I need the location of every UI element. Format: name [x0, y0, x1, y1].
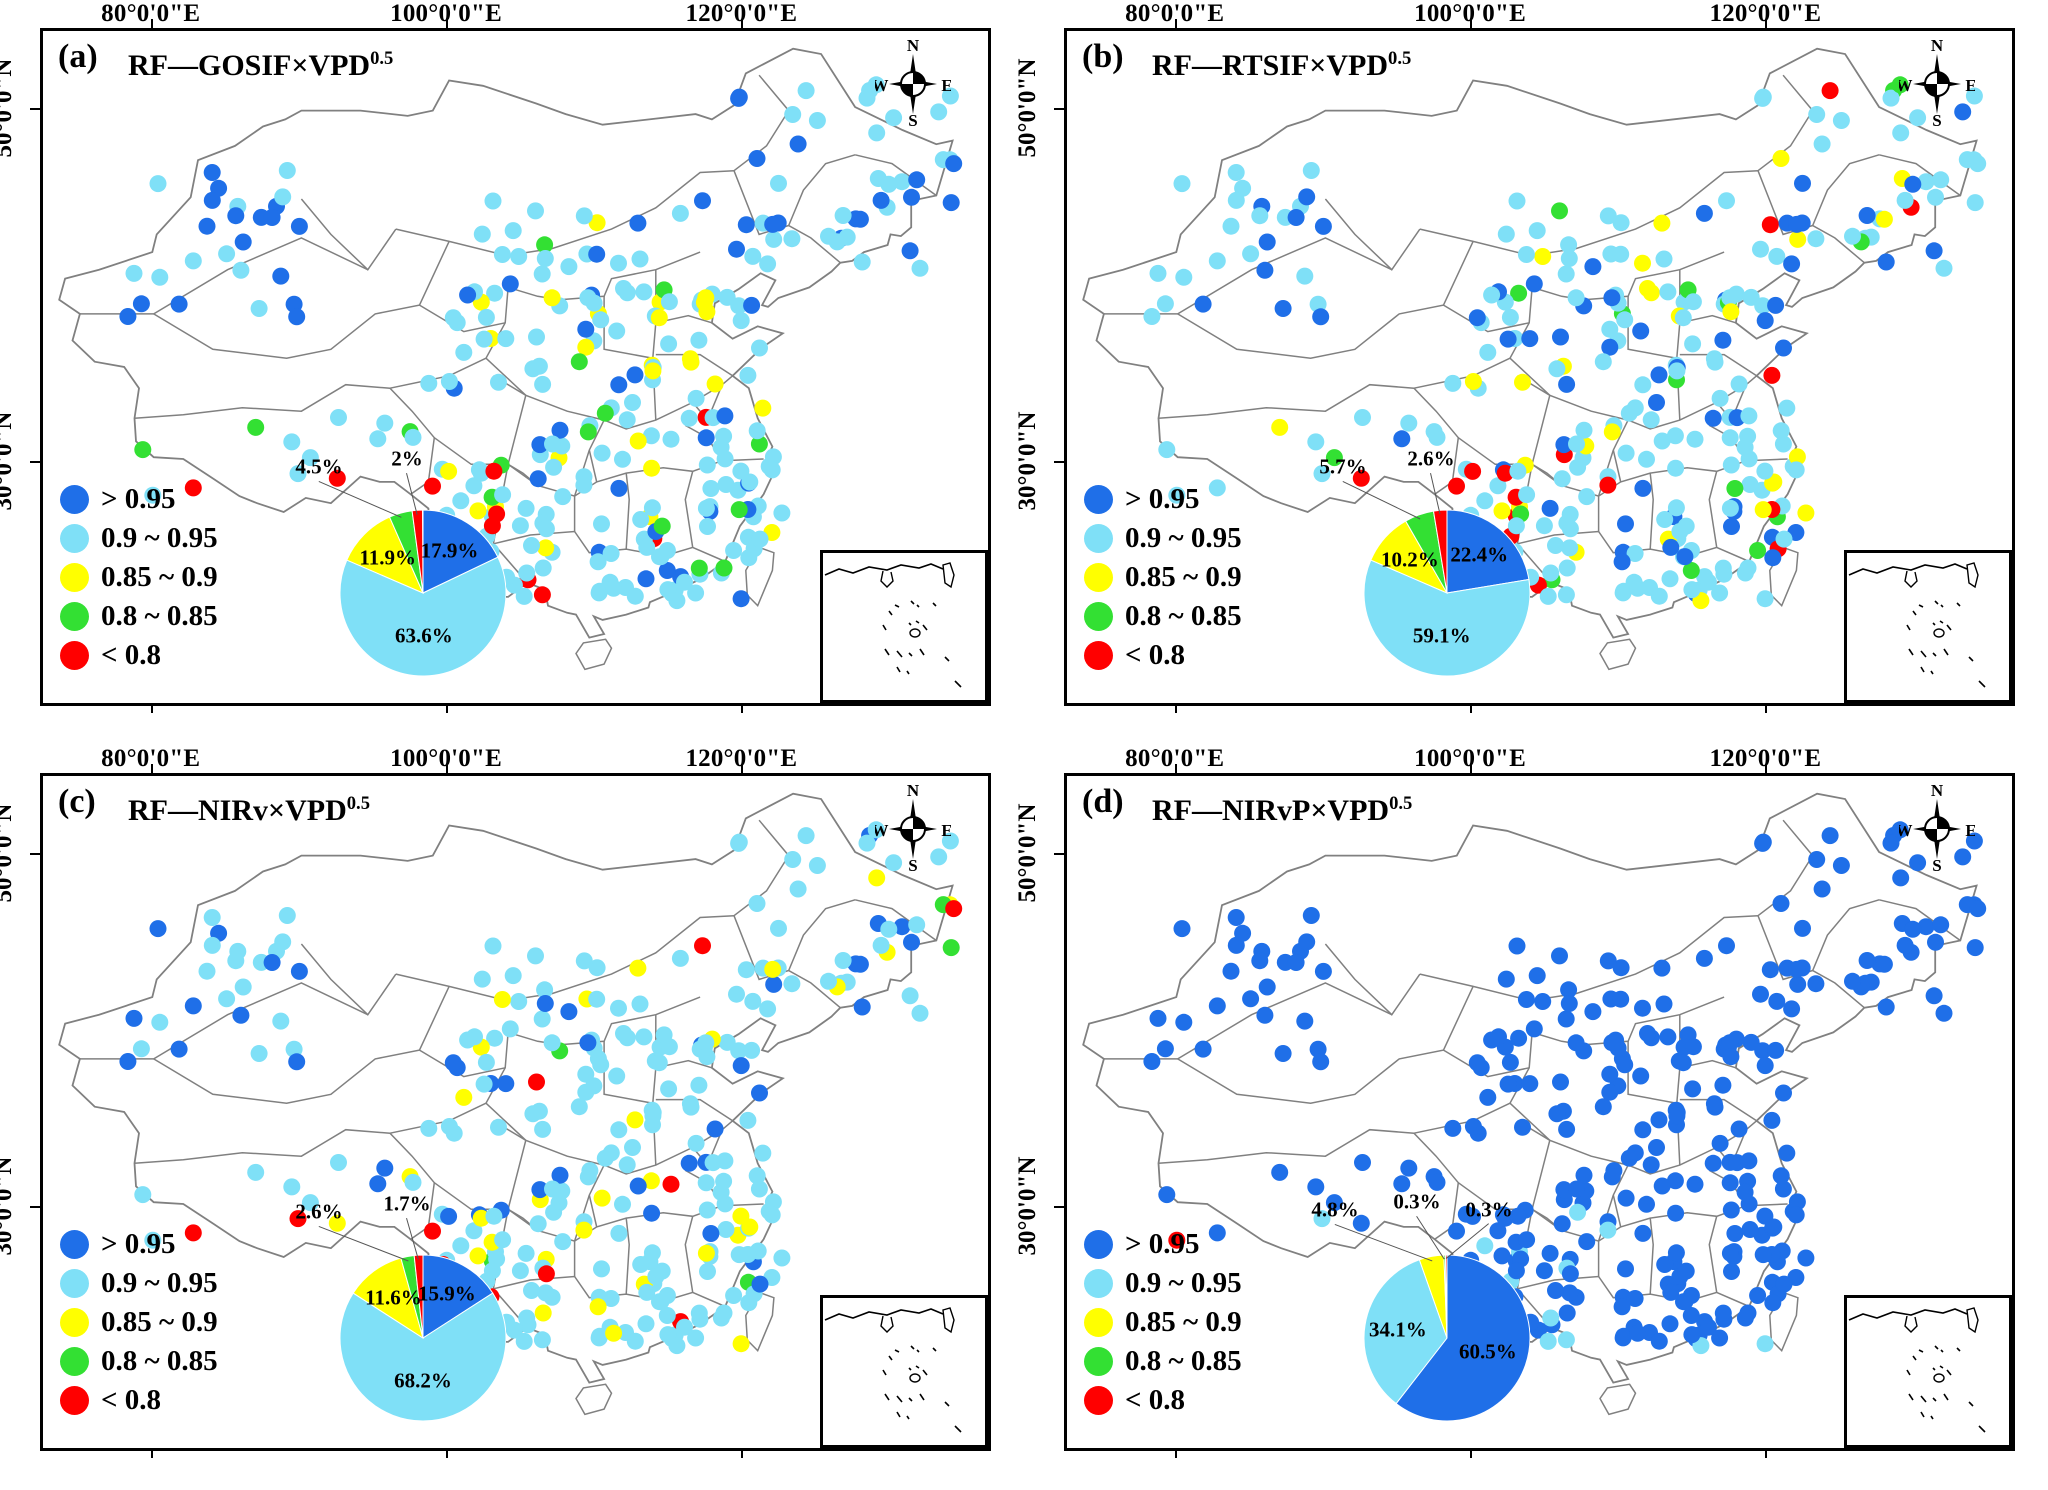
pie-chart [340, 1255, 506, 1421]
legend-item-label: 0.8 ~ 0.85 [1125, 1347, 1242, 1376]
svg-text:N: N [907, 781, 920, 800]
south-china-sea-inset [820, 550, 988, 703]
pie-slice-label: 17.9% [421, 538, 479, 563]
panel-title-text: RF—NIRvP×VPD [1152, 794, 1389, 827]
lon-tick-mark [1470, 764, 1472, 773]
panel-title: RF—GOSIF×VPD0.5 [128, 48, 393, 83]
lat-tick-mark [30, 1206, 40, 1208]
legend-item-label: > 0.95 [1125, 485, 1200, 514]
pie-slice-label: 60.5% [1459, 1339, 1517, 1364]
lon-tick-mark [446, 19, 448, 28]
panel-tag: (b) [1082, 38, 1124, 76]
svg-text:W: W [1899, 821, 1913, 840]
legend-color-swatch-icon [60, 641, 89, 670]
legend-color-swatch-icon [60, 1347, 89, 1376]
legend-item[interactable]: < 0.8 [1084, 1383, 1242, 1418]
pie-slice-callout-label: 1.7% [383, 1192, 430, 1217]
compass-rose-icon: N S E W [875, 36, 951, 128]
legend-item[interactable]: > 0.95 [60, 482, 218, 517]
panel-tag: (c) [58, 783, 96, 821]
legend-color-swatch-icon [60, 485, 89, 514]
lon-tick-mark [151, 764, 153, 773]
legend-item[interactable]: 0.9 ~ 0.95 [60, 1266, 218, 1301]
south-china-sea-inset [1844, 550, 2012, 703]
legend: > 0.950.9 ~ 0.950.85 ~ 0.90.8 ~ 0.85< 0.… [1084, 1227, 1242, 1422]
lon-tick-mark [446, 764, 448, 773]
legend-color-swatch-icon [1084, 1386, 1113, 1415]
pie-slice-label: 11.9% [359, 545, 416, 570]
pie-slice-label: 34.1% [1369, 1318, 1427, 1343]
pie-slice-callout-label: 4.5% [295, 455, 342, 480]
lon-tick-mark [1175, 19, 1177, 28]
panel-title-exponent: 0.5 [1388, 48, 1411, 69]
legend-item-label: 0.85 ~ 0.9 [101, 563, 218, 592]
lat-tick-label: 50°0'0"N [1014, 58, 1042, 157]
legend-color-swatch-icon [1084, 1347, 1113, 1376]
panel-title-text: RF—RTSIF×VPD [1152, 49, 1388, 82]
pie-slice-callout-label: 0.3% [1465, 1198, 1512, 1223]
lat-tick-label: 50°0'0"N [1014, 803, 1042, 902]
compass-rose-icon: N S E W [875, 781, 951, 873]
legend: > 0.950.9 ~ 0.950.85 ~ 0.90.8 ~ 0.85< 0.… [60, 482, 218, 677]
legend-color-swatch-icon [60, 563, 89, 592]
legend-item[interactable]: > 0.95 [1084, 1227, 1242, 1262]
panel-title: RF—NIRvP×VPD0.5 [1152, 793, 1412, 828]
legend-item-label: 0.8 ~ 0.85 [101, 602, 218, 631]
pie-slice-label: 22.4% [1450, 543, 1508, 568]
lat-tick-mark [1054, 461, 1064, 463]
legend-item[interactable]: > 0.95 [60, 1227, 218, 1262]
svg-text:E: E [1965, 821, 1975, 840]
svg-text:E: E [941, 76, 951, 95]
legend-color-swatch-icon [60, 602, 89, 631]
panel-title-exponent: 0.5 [347, 793, 370, 814]
lat-tick-mark [1054, 1206, 1064, 1208]
lat-tick-label: 50°0'0"N [0, 58, 18, 157]
legend-color-swatch-icon [1084, 1269, 1113, 1298]
map-panel-a: 80°0'0"E100°0'0"E120°0'0"E50°0'0"N30°0'0… [0, 0, 1024, 745]
compass-rose-icon: N S E W [1899, 781, 1975, 873]
pie-chart [340, 510, 506, 676]
legend-item[interactable]: < 0.8 [60, 638, 218, 673]
lon-tick-mark [1175, 764, 1177, 773]
legend-item[interactable]: 0.85 ~ 0.9 [60, 560, 218, 595]
legend-item[interactable]: 0.8 ~ 0.85 [1084, 599, 1242, 634]
svg-text:W: W [875, 76, 889, 95]
svg-text:N: N [1931, 781, 1944, 800]
pie-slice-callout-label: 5.7% [1319, 455, 1366, 480]
legend-item-label: 0.8 ~ 0.85 [1125, 602, 1242, 631]
legend-item[interactable]: 0.85 ~ 0.9 [60, 1305, 218, 1340]
legend-item-label: > 0.95 [101, 485, 176, 514]
pie-slice-callout-label: 4.8% [1311, 1198, 1358, 1223]
legend-item-label: < 0.8 [1125, 641, 1185, 670]
map-panel-b: 80°0'0"E100°0'0"E120°0'0"E50°0'0"N30°0'0… [1024, 0, 2048, 745]
pie-slice-label: 68.2% [394, 1369, 452, 1394]
legend-item[interactable]: < 0.8 [1084, 638, 1242, 673]
panel-title: RF—RTSIF×VPD0.5 [1152, 48, 1411, 83]
pie-slice-label: 10.2% [1381, 547, 1439, 572]
lat-tick-label: 30°0'0"N [0, 412, 18, 511]
legend-color-swatch-icon [60, 1269, 89, 1298]
lon-tick-mark [741, 764, 743, 773]
lat-tick-mark [1054, 108, 1064, 110]
legend: > 0.950.9 ~ 0.950.85 ~ 0.90.8 ~ 0.85< 0.… [60, 1227, 218, 1422]
legend-item-label: 0.9 ~ 0.95 [101, 1269, 218, 1298]
panel-tag: (a) [58, 38, 98, 76]
pie-slice-label: 63.6% [395, 624, 453, 649]
legend-color-swatch-icon [1084, 485, 1113, 514]
compass-rose-icon: N S E W [1899, 36, 1975, 128]
pie-slice-callout-label: 2% [391, 447, 423, 472]
legend-color-swatch-icon [60, 1230, 89, 1259]
legend-item-label: 0.85 ~ 0.9 [1125, 1308, 1242, 1337]
legend-item-label: 0.85 ~ 0.9 [101, 1308, 218, 1337]
pie-slice-callout-label: 0.3% [1393, 1190, 1440, 1215]
pie-slice-label: 15.9% [418, 1282, 476, 1307]
legend: > 0.950.9 ~ 0.950.85 ~ 0.90.8 ~ 0.85< 0.… [1084, 482, 1242, 677]
lat-tick-label: 30°0'0"N [1014, 412, 1042, 511]
legend-item[interactable]: < 0.8 [60, 1383, 218, 1418]
legend-item-label: > 0.95 [101, 1230, 176, 1259]
panel-tag: (d) [1082, 783, 1124, 821]
legend-color-swatch-icon [1084, 1230, 1113, 1259]
panel-title-exponent: 0.5 [1389, 793, 1412, 814]
legend-color-swatch-icon [60, 1386, 89, 1415]
panel-title-text: RF—NIRv×VPD [128, 794, 347, 827]
legend-item-label: 0.9 ~ 0.95 [1125, 524, 1242, 553]
legend-color-swatch-icon [1084, 524, 1113, 553]
legend-color-swatch-icon [1084, 563, 1113, 592]
panel-title-text: RF—GOSIF×VPD [128, 49, 370, 82]
legend-color-swatch-icon [1084, 1308, 1113, 1337]
legend-item[interactable]: 0.8 ~ 0.85 [60, 1344, 218, 1379]
legend-item[interactable]: 0.9 ~ 0.95 [1084, 1266, 1242, 1301]
lat-tick-mark [1054, 853, 1064, 855]
pie-slice-label: 11.6% [365, 1285, 422, 1310]
legend-item[interactable]: > 0.95 [1084, 482, 1242, 517]
lon-tick-mark [151, 19, 153, 28]
lon-tick-mark [1765, 19, 1767, 28]
svg-text:N: N [1931, 36, 1944, 55]
svg-text:W: W [875, 821, 889, 840]
legend-item-label: 0.85 ~ 0.9 [1125, 563, 1242, 592]
legend-item[interactable]: 0.8 ~ 0.85 [60, 599, 218, 634]
svg-text:N: N [907, 36, 920, 55]
legend-item-label: < 0.8 [101, 641, 161, 670]
legend-color-swatch-icon [60, 524, 89, 553]
legend-item[interactable]: 0.9 ~ 0.95 [1084, 521, 1242, 556]
lat-tick-label: 30°0'0"N [0, 1157, 18, 1256]
legend-item-label: 0.8 ~ 0.85 [101, 1347, 218, 1376]
pie-slice-callout-label: 2.6% [1407, 447, 1454, 472]
figure-root: 80°0'0"E100°0'0"E120°0'0"E50°0'0"N30°0'0… [0, 0, 2048, 1490]
lat-tick-label: 30°0'0"N [1014, 1157, 1042, 1256]
pie-chart [1364, 510, 1530, 676]
svg-text:E: E [1965, 76, 1975, 95]
legend-item-label: > 0.95 [1125, 1230, 1200, 1259]
legend-color-swatch-icon [60, 1308, 89, 1337]
legend-color-swatch-icon [1084, 602, 1113, 631]
legend-item[interactable]: 0.85 ~ 0.9 [1084, 1305, 1242, 1340]
map-panel-d: 80°0'0"E100°0'0"E120°0'0"E50°0'0"N30°0'0… [1024, 745, 2048, 1490]
south-china-sea-inset [820, 1295, 988, 1448]
lat-tick-mark [30, 108, 40, 110]
legend-color-swatch-icon [1084, 641, 1113, 670]
pie-slice-label: 59.1% [1413, 623, 1471, 648]
pie-slice-callout-label: 2.6% [295, 1200, 342, 1225]
legend-item-label: 0.9 ~ 0.95 [101, 524, 218, 553]
legend-item-label: < 0.8 [101, 1386, 161, 1415]
lon-tick-mark [1765, 764, 1767, 773]
lon-tick-mark [1470, 19, 1472, 28]
svg-text:W: W [1899, 76, 1913, 95]
legend-item-label: 0.9 ~ 0.95 [1125, 1269, 1242, 1298]
lat-tick-mark [30, 461, 40, 463]
legend-item[interactable]: 0.9 ~ 0.95 [60, 521, 218, 556]
lon-tick-mark [741, 19, 743, 28]
panel-title: RF—NIRv×VPD0.5 [128, 793, 370, 828]
legend-item[interactable]: 0.85 ~ 0.9 [1084, 560, 1242, 595]
legend-item-label: < 0.8 [1125, 1386, 1185, 1415]
map-panel-c: 80°0'0"E100°0'0"E120°0'0"E50°0'0"N30°0'0… [0, 745, 1024, 1490]
legend-item[interactable]: 0.8 ~ 0.85 [1084, 1344, 1242, 1379]
lat-tick-label: 50°0'0"N [0, 803, 18, 902]
svg-text:E: E [941, 821, 951, 840]
lat-tick-mark [30, 853, 40, 855]
panel-title-exponent: 0.5 [370, 48, 393, 69]
south-china-sea-inset [1844, 1295, 2012, 1448]
